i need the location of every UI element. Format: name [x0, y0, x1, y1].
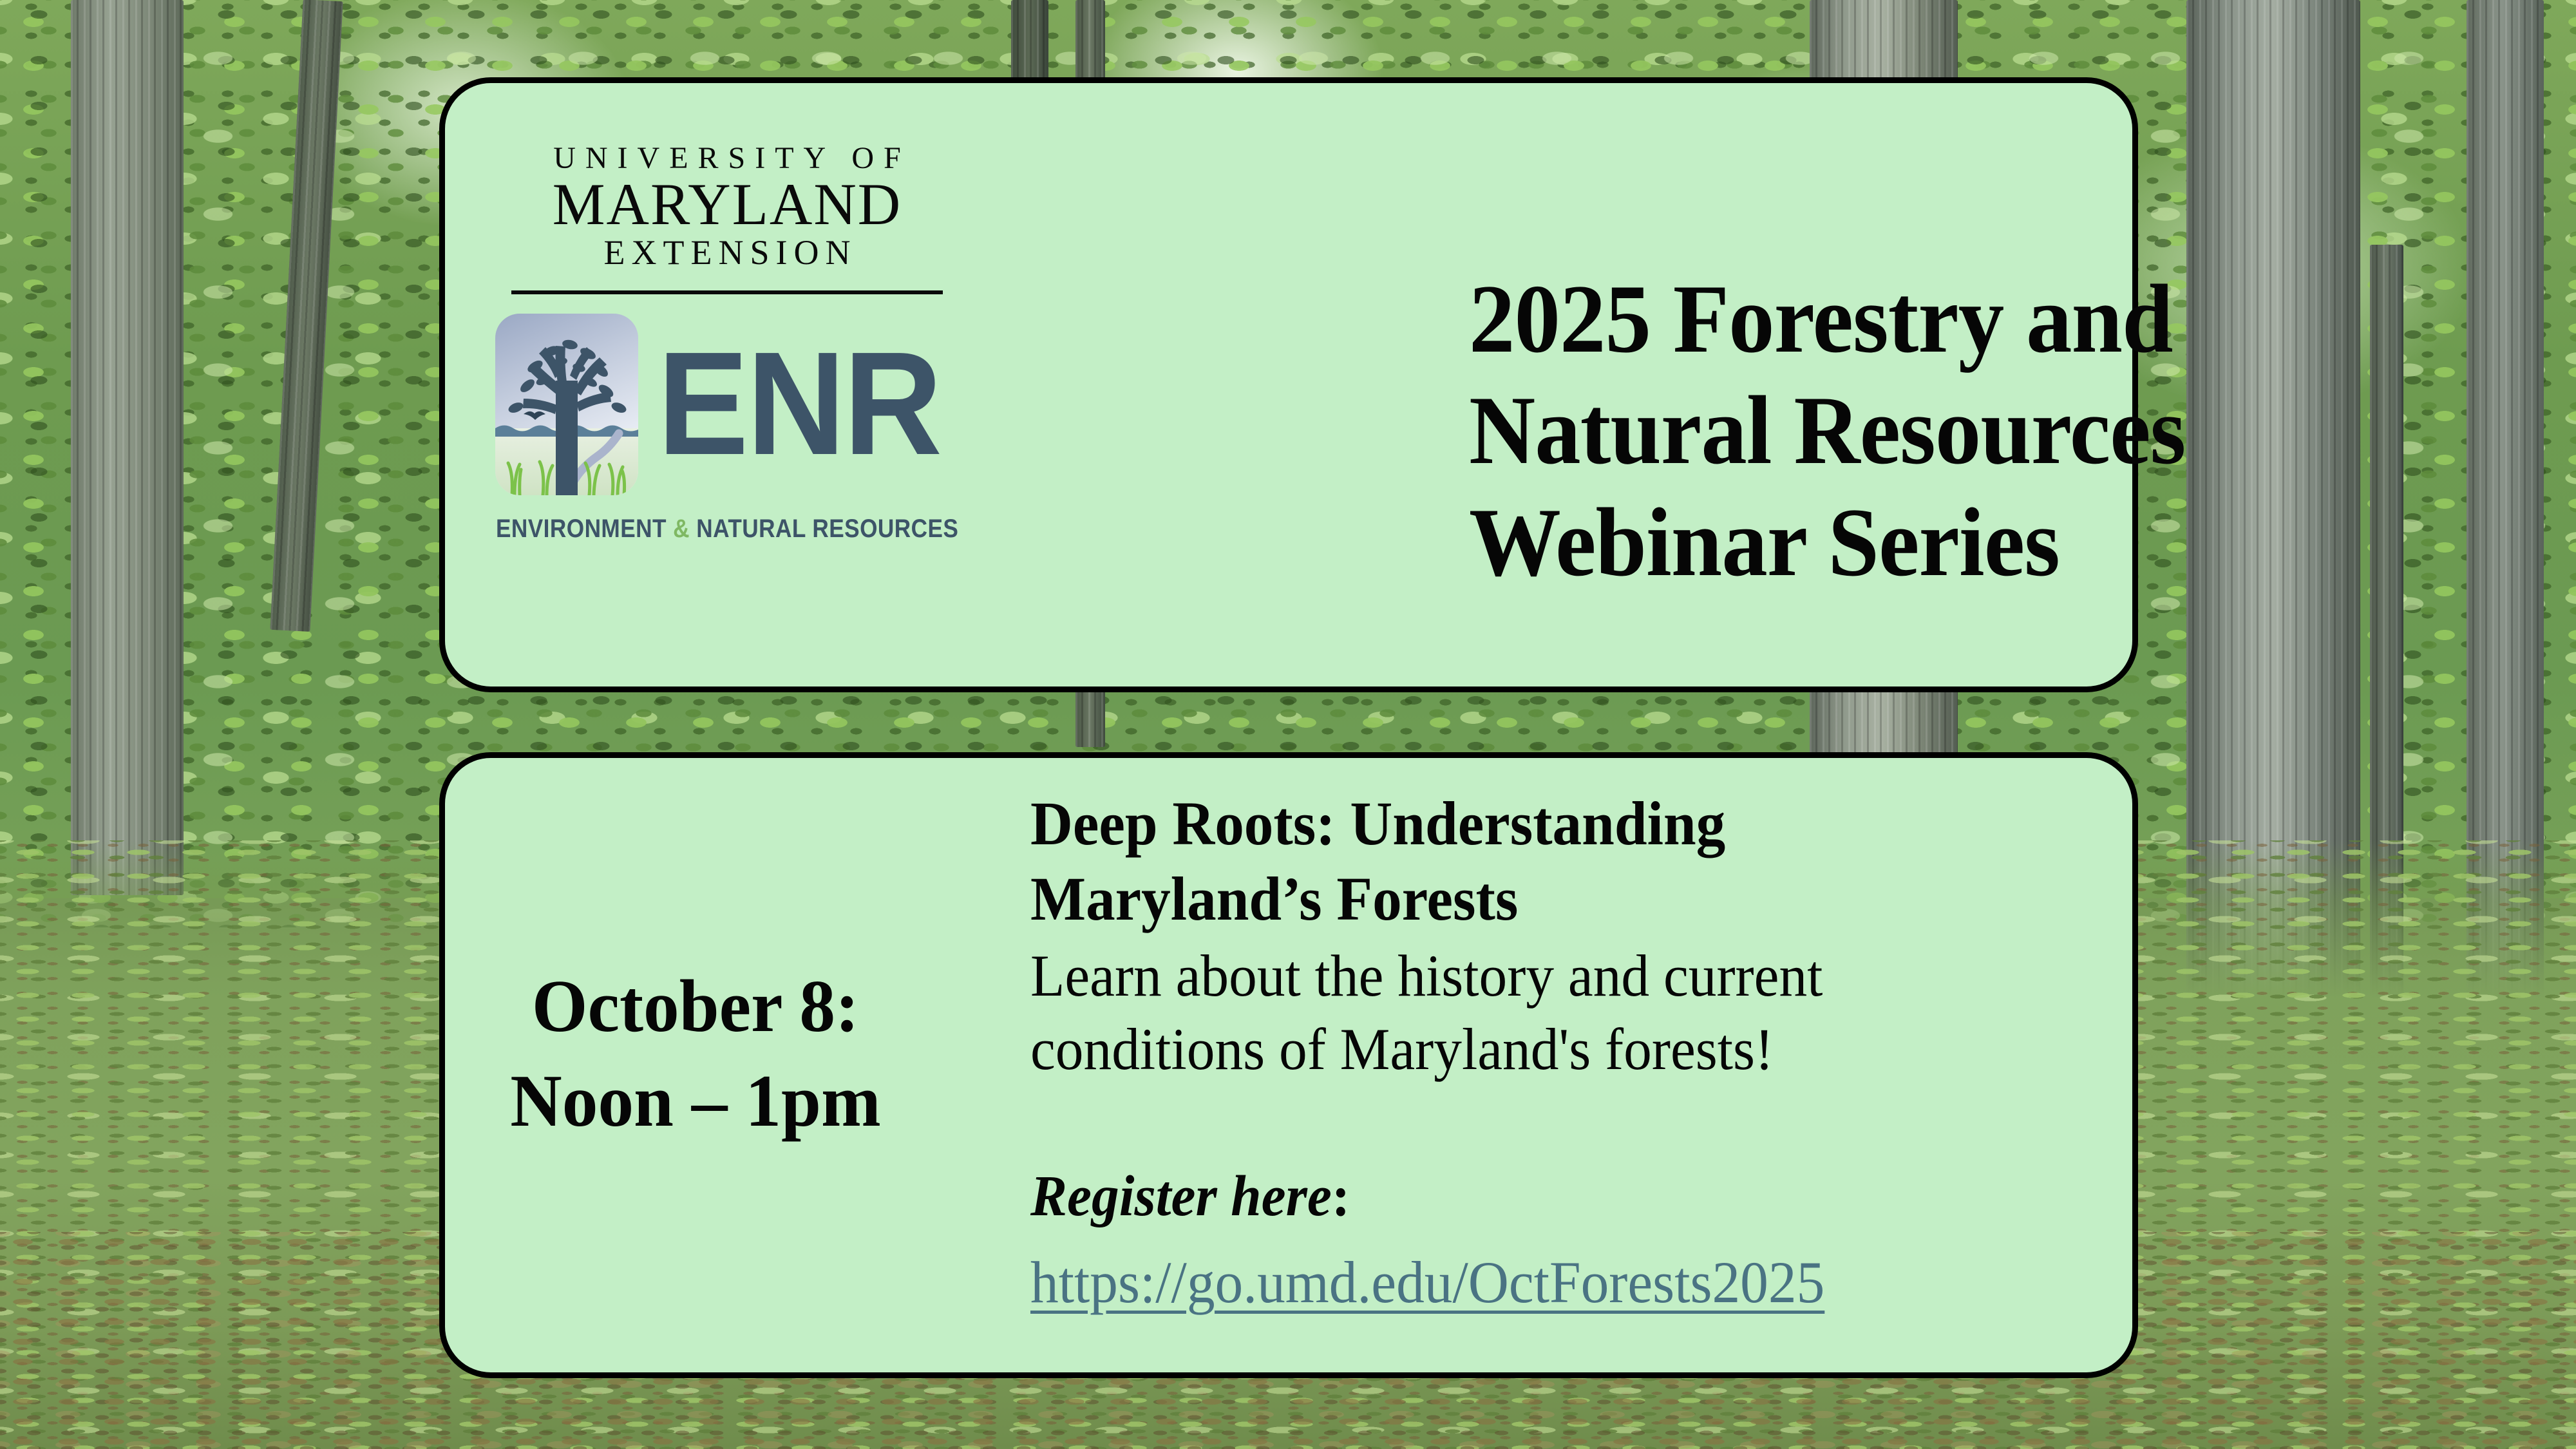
event-time: Noon – 1pm	[436, 1054, 955, 1149]
enr-logo-lockup: ENR	[493, 311, 961, 498]
event-date-time: October 8: Noon – 1pm	[436, 960, 955, 1150]
register-prompt: Register here:	[1030, 1162, 2046, 1231]
header-card: UNIVERSITY OF MARYLAND EXTENSION	[439, 77, 2138, 692]
page-title-line-2: Natural Resources	[1469, 375, 2486, 486]
session-title: Deep Roots: Understanding Maryland’s For…	[1030, 786, 2046, 936]
session-description: Learn about the history and current cond…	[1030, 939, 2046, 1086]
register-here-label: Register here	[1030, 1164, 1332, 1228]
event-date: October 8:	[436, 960, 955, 1054]
umd-extension-wordmark: UNIVERSITY OF MARYLAND EXTENSION	[544, 142, 911, 272]
enr-tagline-environment: ENVIRONMENT	[496, 515, 673, 543]
wordmark-line-university-of: UNIVERSITY OF	[544, 142, 911, 175]
session-title-line-1: Deep Roots: Understanding	[1030, 786, 2046, 861]
page-title: 2025 Forestry and Natural Resources Webi…	[1469, 263, 2486, 598]
enr-tagline: ENVIRONMENT & NATURAL RESOURCES	[496, 515, 958, 544]
session-description-line-1: Learn about the history and current	[1030, 939, 2046, 1012]
registration-link[interactable]: https://go.umd.edu/OctForests2025	[1030, 1247, 1824, 1318]
wordmark-line-maryland: MARYLAND	[544, 175, 911, 234]
enr-letters: ENR	[658, 344, 940, 464]
enr-tagline-natural-resources: NATURAL RESOURCES	[690, 515, 958, 543]
page-title-line-1: 2025 Forestry and	[1469, 263, 2486, 375]
tree-trunk	[71, 0, 184, 895]
session-description-line-2: conditions of Maryland's forests!	[1030, 1012, 2046, 1086]
session-title-line-2: Maryland’s Forests	[1030, 861, 2046, 936]
wordmark-line-extension: EXTENSION	[544, 234, 911, 272]
register-colon: :	[1332, 1164, 1350, 1228]
tree-landscape-icon	[493, 311, 641, 498]
branding-column: UNIVERSITY OF MARYLAND EXTENSION	[502, 142, 952, 544]
page-title-line-3: Webinar Series	[1469, 487, 2486, 598]
enr-tagline-ampersand: &	[673, 515, 690, 543]
branding-divider	[511, 290, 943, 294]
session-details: Deep Roots: Understanding Maryland’s For…	[1030, 786, 2099, 1318]
